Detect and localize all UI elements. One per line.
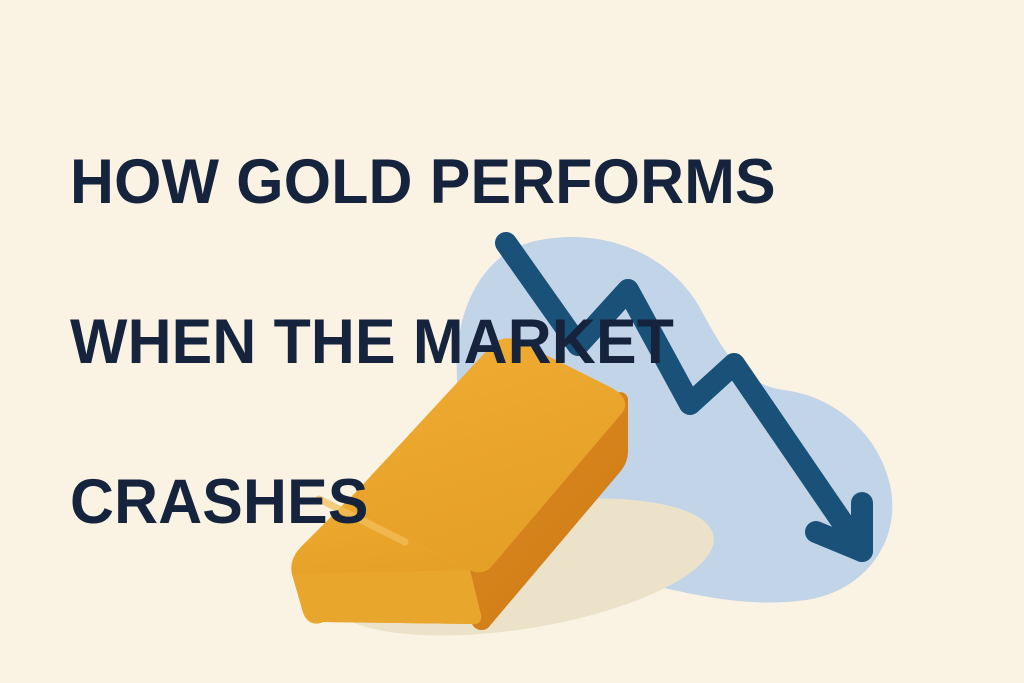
headline-line-2: WHEN THE MARKET [70, 302, 823, 382]
headline-line-3: CRASHES [70, 462, 823, 542]
poster-canvas: HOW GOLD PERFORMS WHEN THE MARKET CRASHE… [0, 0, 1024, 683]
page-title: HOW GOLD PERFORMS WHEN THE MARKET CRASHE… [70, 62, 823, 622]
headline-line-1: HOW GOLD PERFORMS [70, 142, 823, 222]
